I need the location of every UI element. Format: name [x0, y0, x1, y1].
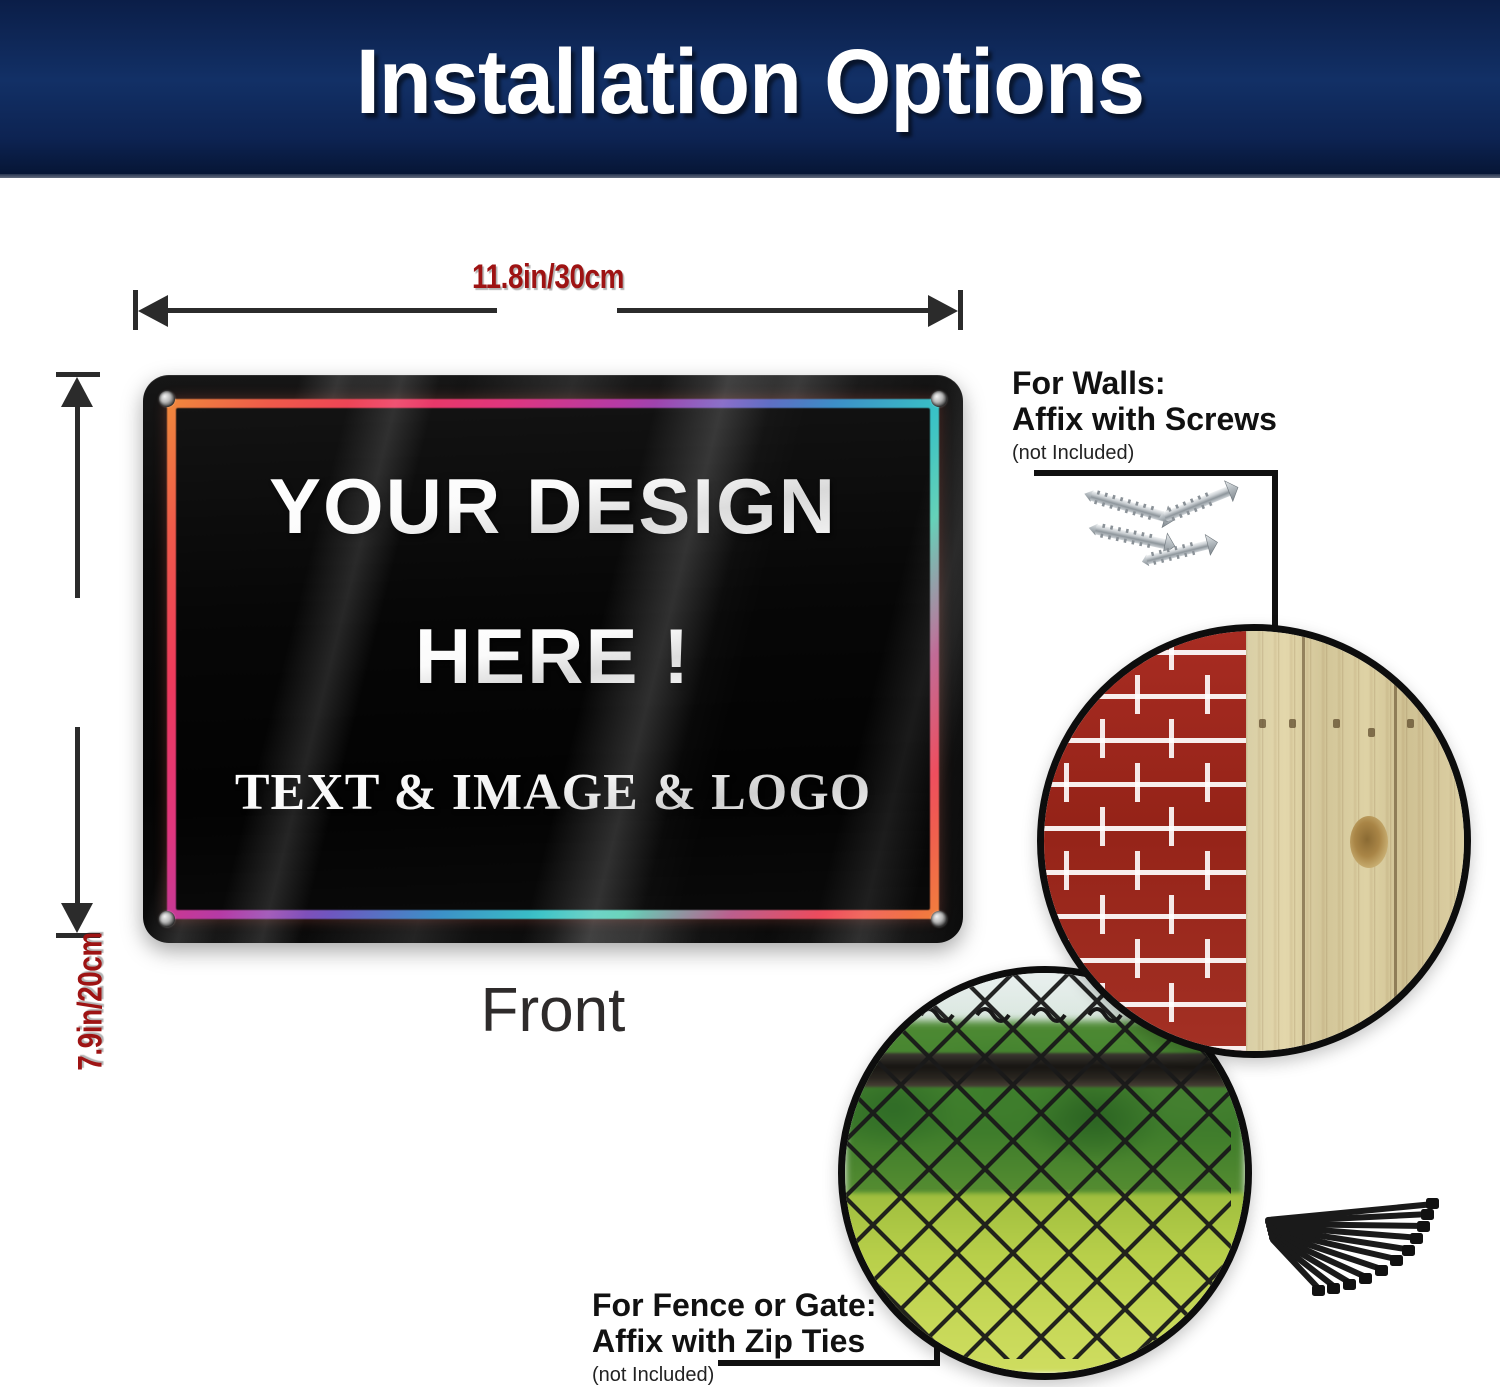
callout-walls-line1: For Walls:: [1012, 366, 1432, 402]
width-dim-bar-right: [617, 308, 949, 313]
wood-plank-texture: [1246, 631, 1464, 1051]
callout-walls: For Walls: Affix with Screws (not Includ…: [1012, 366, 1432, 465]
height-dimension-label: 7.9in/20cm: [72, 805, 111, 1199]
brick-wall-texture: [1044, 631, 1246, 1051]
callout-walls-note: (not Included): [1012, 441, 1432, 465]
zip-ties-icon: [1258, 1190, 1458, 1310]
sign-front-caption: Front: [143, 975, 963, 1046]
screw-hole-top-right-icon: [931, 391, 947, 407]
width-dim-bar-left: [147, 308, 497, 313]
width-dim-cap-right: [958, 290, 963, 330]
sign-plate: YOUR DESIGN HERE ! TEXT & IMAGE & LOGO: [143, 375, 963, 943]
screw-hole-top-left-icon: [159, 391, 175, 407]
height-dim-bar-top: [75, 388, 80, 598]
brick-wall-and-wood-photo: [1037, 624, 1471, 1058]
header-banner: Installation Options: [0, 0, 1500, 178]
callout-walls-line2: Affix with Screws: [1012, 402, 1432, 438]
screw-hole-bottom-right-icon: [931, 911, 947, 927]
sign-text-block: YOUR DESIGN HERE ! TEXT & IMAGE & LOGO: [203, 467, 903, 895]
page-title: Installation Options: [45, 36, 1455, 128]
infographic-canvas: Installation Options 11.8in/30cm 7.9in/2…: [0, 0, 1500, 1382]
sign-headline-2: HERE !: [415, 617, 691, 695]
height-dimension-line: 7.9in/20cm: [56, 372, 100, 938]
banner-bottom-edge: [0, 174, 1500, 178]
sign-product: YOUR DESIGN HERE ! TEXT & IMAGE & LOGO: [143, 375, 963, 943]
screw-hole-bottom-left-icon: [159, 911, 175, 927]
sign-subline: TEXT & IMAGE & LOGO: [235, 767, 871, 819]
width-dimension-label: 11.8in/30cm: [208, 258, 889, 297]
sign-headline-1: YOUR DESIGN: [269, 467, 837, 545]
screws-icon: [1078, 470, 1278, 600]
